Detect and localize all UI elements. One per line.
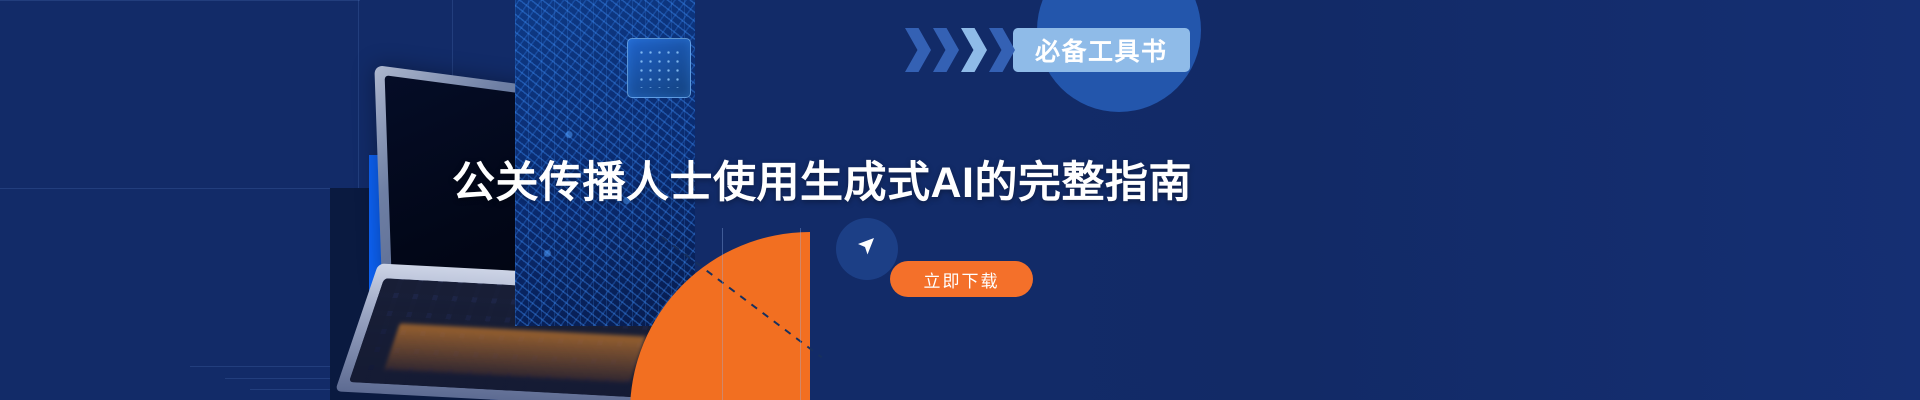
cursor-arrow-badge	[836, 218, 898, 280]
grid-line-horizontal	[0, 0, 360, 1]
cursor-arrow-icon	[854, 235, 880, 263]
badge: 必备工具书	[905, 28, 1190, 72]
badge-label: 必备工具书	[1035, 32, 1168, 68]
chevron-right-icon	[905, 28, 931, 72]
badge-pill: 必备工具书	[1013, 28, 1190, 72]
promo-banner: 必备工具书 公关传播人士使用生成式AI的完整指南 立即下载	[0, 0, 1920, 400]
chevron-right-icon	[989, 28, 1015, 72]
chevron-right-icon	[933, 28, 959, 72]
download-button[interactable]: 立即下载	[890, 261, 1033, 297]
circuit-chip	[627, 38, 691, 98]
decorative-vertical-line	[722, 228, 723, 400]
decorative-vertical-line	[800, 228, 801, 400]
banner-title: 公关传播人士使用生成式AI的完整指南	[452, 148, 1192, 210]
download-button-label: 立即下载	[924, 267, 1000, 292]
chevron-right-icon	[961, 28, 987, 72]
